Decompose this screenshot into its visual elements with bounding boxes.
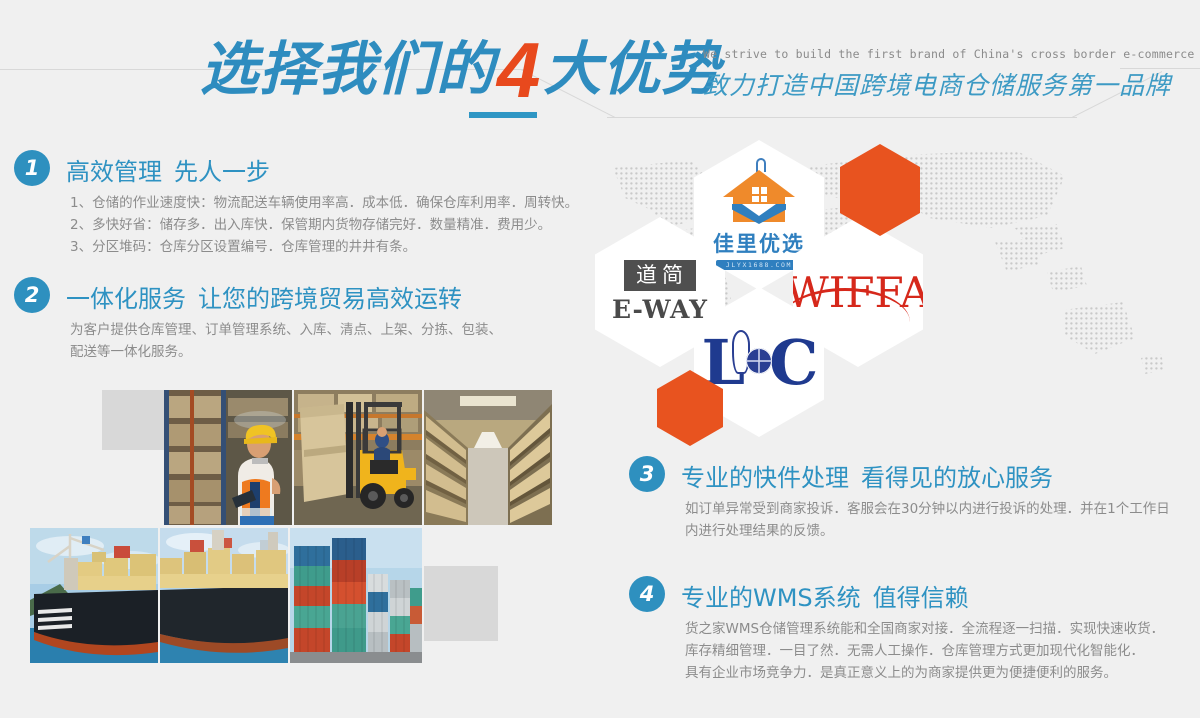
warehouse-worker-photo [164, 390, 292, 525]
lc-globe-icon [746, 348, 772, 374]
tagline-english: We strive to build the first brand of Ch… [703, 47, 1200, 61]
section-4-title-main: 专业的WMS系统 [681, 584, 861, 612]
section-3-line-2: 内进行处理结果的反馈。 [685, 520, 1170, 542]
section-3-title: 专业的快件处理看得见的放心服务 [681, 458, 1053, 493]
page-header: 选择我们的4大优势 We strive to build the first b… [0, 0, 1200, 132]
promo-page: 选择我们的4大优势 We strive to build the first b… [0, 0, 1200, 718]
eway-en-label: E-WAY [612, 295, 708, 324]
jlyx-cn-label: 佳里优选 [713, 228, 805, 258]
jlyx-domain-label: JLYX1688.COM [716, 260, 802, 270]
section-2-line-2: 配送等一体化服务。 [70, 341, 502, 363]
cargo-ship-right-art [160, 528, 288, 663]
badge-number-2: 2 [14, 277, 50, 313]
section-1-line-1: 1、仓储的作业速度快：物流配送车辆使用率高．成本低．确保仓库利用率．周转快。 [70, 192, 578, 214]
section-3-line-1: 如订单异常受到商家投诉．客服会在30分钟以内进行投诉的处理．并在1个工作日 [685, 498, 1170, 520]
badge-number-1: 1 [14, 150, 50, 186]
badge-number-4: 4 [629, 576, 665, 612]
section-2-title-main: 一体化服务 [66, 285, 186, 313]
section-3-body: 如订单异常受到商家投诉．客服会在30分钟以内进行投诉的处理．并在1个工作日 内进… [685, 498, 1170, 542]
cargo-ship-photo-right [160, 528, 288, 663]
headline-prefix: 选择我们的 [200, 35, 495, 103]
section-1-line-3: 3、分区堆码：仓库分区设置编号．仓库管理的井井有条。 [70, 236, 578, 258]
section-1-title: 高效管理先人一步 [66, 152, 270, 187]
jlyx-window-icon [751, 186, 768, 203]
cargo-ship-left-art [30, 528, 158, 663]
warehouse-aisle-art [424, 390, 552, 525]
section-2-title: 一体化服务让您的跨境贸易高效运转 [66, 279, 462, 314]
headline-number-4: 4 [495, 25, 543, 116]
header-rule-bottom [607, 117, 1077, 118]
section-4-body: 货之家WMS仓储管理系统能和全国商家对接．全流程逐一扫描．实现快速收货． 库存精… [685, 618, 1164, 684]
section-2-line-1: 为客户提供仓库管理、订单管理系统、入库、清点、上架、分拣、包装、 [70, 319, 502, 341]
section-1-title-sub: 先人一步 [174, 158, 270, 186]
shipping-containers-photo [290, 528, 422, 663]
section-1-line-2: 2、多快好省：储存多．出入库快．保管期内货物存储完好．数量精准．费用少。 [70, 214, 578, 236]
warehouse-aisle-photo [424, 390, 552, 525]
section-4-line-3: 具有企业市场竞争力．是真正意义上的为商家提供更为便捷便利的服务。 [685, 662, 1164, 684]
section-2-title-sub: 让您的跨境贸易高效运转 [198, 285, 462, 313]
page-title: 选择我们的4大优势 [200, 22, 720, 116]
section-1-body: 1、仓储的作业速度快：物流配送车辆使用率高．成本低．确保仓库利用率．周转快。 2… [70, 192, 578, 258]
section-3-title-sub: 看得见的放心服务 [861, 464, 1053, 492]
containers-art [290, 528, 422, 663]
headline-underline-accent [469, 112, 537, 118]
section-1-title-main: 高效管理 [66, 158, 162, 186]
wiffa-logo: WIFFA [786, 268, 931, 317]
placeholder-bottom-right [424, 566, 498, 641]
cargo-ship-photo-left [30, 528, 158, 663]
forklift-art [294, 390, 422, 525]
section-4-line-2: 库存精细管理．一目了然．无需人工操作．仓库管理方式更加现代化智能化． [685, 640, 1164, 662]
placeholder-top-left [102, 390, 164, 450]
headline-suffix: 大优势 [543, 35, 720, 103]
section-4-line-1: 货之家WMS仓储管理系统能和全国商家对接．全流程逐一扫描．实现快速收货． [685, 618, 1164, 640]
section-2-body: 为客户提供仓库管理、订单管理系统、入库、清点、上架、分拣、包装、 配送等一体化服… [70, 319, 502, 363]
jlyx-house-icon [723, 166, 795, 224]
photo-collage [30, 390, 560, 665]
section-3-title-main: 专业的快件处理 [681, 464, 849, 492]
section-4-title: 专业的WMS系统值得信赖 [681, 578, 969, 613]
eway-cn-label: 道简 [624, 260, 696, 291]
partner-hex-cluster: 道简 E-WAY 佳里优选 JLYX1688.COM [595, 132, 1200, 432]
section-4-title-sub: 值得信赖 [873, 584, 969, 612]
tagline-chinese: 致力打造中国跨境电商仓储服务第一品牌 [703, 66, 1171, 102]
badge-number-3: 3 [629, 456, 665, 492]
warehouse-worker-art [164, 390, 292, 525]
forklift-photo [294, 390, 422, 525]
